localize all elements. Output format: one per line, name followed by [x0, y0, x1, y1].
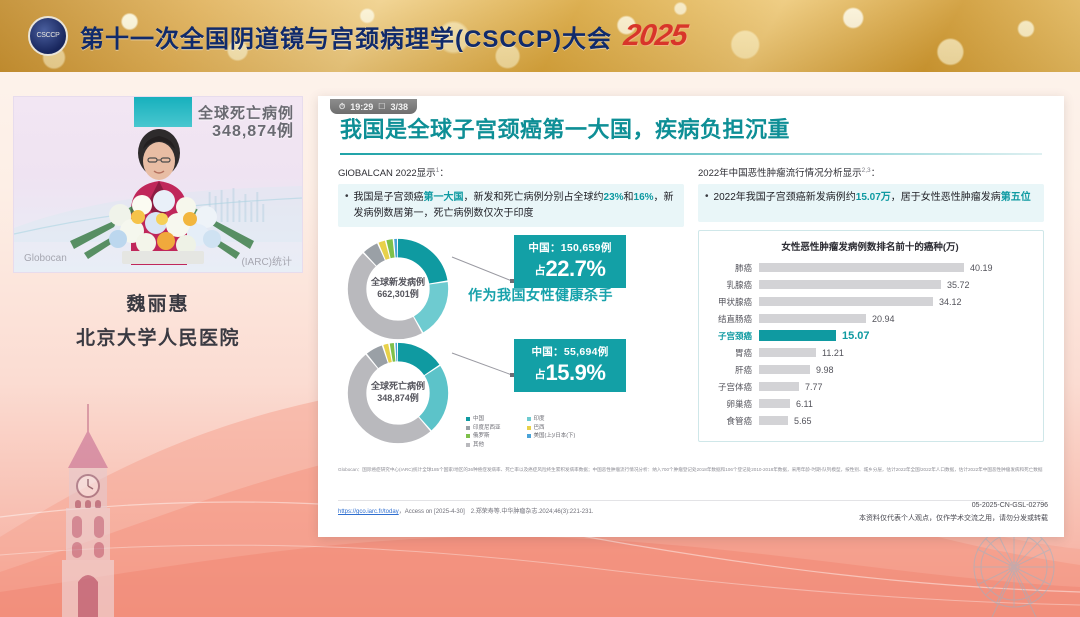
- bar-value-label: 5.65: [794, 416, 812, 426]
- legend-swatch-icon: [527, 434, 531, 438]
- slide-page-counter: 3/38: [390, 102, 408, 112]
- bar-value-label: 35.72: [947, 280, 970, 290]
- left-heading-colon: ：: [439, 168, 449, 179]
- speaker-name: 魏丽惠: [13, 289, 303, 316]
- bar-category-label: 甲状腺癌: [707, 296, 759, 308]
- donut-legend-column-2: 印度巴西美国(上)/日本(下): [527, 415, 576, 449]
- photo-caption-right: (IARC)统计: [241, 253, 292, 268]
- slide-page-icon: ☐: [378, 102, 385, 111]
- legend-item: 美国(上)/日本(下): [527, 432, 576, 441]
- slide-right-column: 2022年中国恶性肿瘤流行情况分析显示2,3： • 2022年我国子宫颈癌新发病…: [698, 165, 1044, 451]
- bullet-segment-0: 我国是子宫颈癌: [354, 192, 424, 203]
- left-heading-text: GlOBALCAN 2022显示: [338, 168, 436, 179]
- legend-label: 中国: [473, 415, 484, 424]
- bar-fill: [759, 399, 790, 408]
- tagline-text: 作为我国女性健康杀手: [468, 285, 613, 305]
- legend-swatch-icon: [466, 434, 470, 438]
- right-heading-sup: 2,3: [862, 167, 871, 174]
- callout-deaths-percent: 占15.9%: [524, 360, 616, 386]
- bar-chart-row: 肺癌40.19: [707, 259, 1033, 276]
- legend-swatch-icon: [527, 426, 531, 430]
- bar-track: 40.19: [759, 263, 1033, 273]
- left-bullet-box: • 我国是子宫颈癌第一大国，新发和死亡病例分别占全球约23%和16%，新发病例数…: [338, 184, 684, 227]
- bar-value-label: 7.77: [805, 382, 823, 392]
- photo-caption-left: Globocan: [24, 253, 67, 268]
- bar-chart-rows: 肺癌40.19乳腺癌35.72甲状腺癌34.12结直肠癌20.94子宫颈癌15.…: [707, 259, 1033, 429]
- callout-new-cases-percent: 占22.7%: [524, 256, 616, 282]
- bar-category-label: 子宫体癌: [707, 381, 759, 393]
- legend-item: 俄罗斯: [466, 432, 501, 441]
- bar-fill: [759, 280, 941, 289]
- donut-deaths-ring: 全球死亡病例 348,874例: [344, 339, 452, 447]
- donut-deaths-center-label: 全球死亡病例 348,874例: [344, 339, 452, 447]
- bar-category-label: 胃癌: [707, 347, 759, 359]
- right-bullet: • 2022年我国子宫颈癌新发病例约15.07万，居于女性恶性肿瘤发病第五位: [705, 190, 1036, 206]
- donut-deaths-line1: 全球死亡病例: [371, 381, 425, 393]
- slide-source-line: https://gco.iarc.fr/today，Access on [202…: [338, 506, 593, 515]
- bullet-segment-1: 15.07万: [856, 192, 891, 203]
- donut-new-cases-center-label: 全球新发病例 662,301例: [344, 235, 452, 343]
- bar-fill: [759, 330, 836, 341]
- bar-chart-row: 甲状腺癌34.12: [707, 293, 1033, 310]
- donut-deaths-callout: 中国：55,694例 占15.9%: [514, 339, 626, 392]
- bar-value-label: 34.12: [939, 297, 962, 307]
- bar-value-label: 6.11: [796, 399, 813, 409]
- legend-label: 印度尼西亚: [473, 424, 501, 433]
- slide-title: 我国是全球子宫颈癌第一大国，疾病负担沉重: [340, 112, 1042, 144]
- slide-columns: GlOBALCAN 2022显示1： • 我国是子宫颈癌第一大国，新发和死亡病例…: [318, 155, 1064, 451]
- cscc-logo-icon: CSCCP: [28, 16, 68, 56]
- bar-category-label: 结直肠癌: [707, 313, 759, 325]
- clock-icon: ⏱: [339, 102, 345, 112]
- bar-chart-row: 食管癌5.65: [707, 412, 1033, 429]
- slide-footnote: Globocan：国际癌症研究中心(IARC)统计全球185个国家/地区的36种…: [338, 466, 1044, 474]
- slide-legal-block: 05-2025-CN-GSL-02796 本资料仅代表个人观点，仅作学术交流之用…: [859, 500, 1048, 525]
- conference-banner: CSCCP 第十一次全国阴道镜与宫颈病理学(CSCCP)大会 2025: [0, 0, 1080, 72]
- donut-new-cases-ring: 全球新发病例 662,301例: [344, 235, 452, 343]
- conference-title: 第十一次全国阴道镜与宫颈病理学(CSCCP)大会: [80, 19, 612, 54]
- bar-fill: [759, 263, 964, 272]
- legend-label: 俄罗斯: [473, 432, 490, 441]
- donut-new-cases-line2: 662,301例: [377, 289, 419, 301]
- donut-legend-column-1: 中国印度尼西亚俄罗斯其他: [466, 415, 501, 449]
- bar-track: 6.11: [759, 399, 1033, 409]
- legend-label: 其他: [473, 441, 484, 450]
- bar-fill: [759, 348, 816, 357]
- donut-new-cases-callout: 中国：150,659例 占22.7%: [514, 235, 626, 288]
- bar-chart-row: 卵巢癌6.11: [707, 395, 1033, 412]
- legend-label: 美国(上)/日本(下): [534, 432, 576, 441]
- callout-deaths-line1: 中国：55,694例: [524, 344, 616, 359]
- right-heading-colon: ：: [871, 168, 881, 179]
- bar-category-label: 食管癌: [707, 415, 759, 427]
- bullet-dot-icon: •: [345, 190, 349, 221]
- bar-track: 20.94: [759, 314, 1033, 324]
- bar-value-label: 20.94: [872, 314, 895, 324]
- bar-track: 15.07: [759, 330, 1033, 342]
- bar-fill: [759, 416, 788, 425]
- bar-chart-row: 胃癌11.21: [707, 344, 1033, 361]
- slide-left-column: GlOBALCAN 2022显示1： • 我国是子宫颈癌第一大国，新发和死亡病例…: [338, 165, 684, 451]
- callout-new-cases-prefix: 占: [535, 265, 546, 277]
- callout-deaths-prefix: 占: [535, 369, 546, 381]
- bar-value-label: 15.07: [842, 330, 870, 342]
- photo-overlay-line1: 全球死亡病例: [198, 105, 294, 123]
- bar-track: 11.21: [759, 348, 1033, 358]
- photo-caption-row: Globocan (IARC)统计: [24, 253, 292, 268]
- bar-track: 7.77: [759, 382, 1033, 392]
- bullet-segment-2: ，居于女性恶性肿瘤发病: [891, 192, 1001, 203]
- bar-chart-row: 子宫体癌7.77: [707, 378, 1033, 395]
- bar-value-label: 40.19: [970, 263, 993, 273]
- bar-fill: [759, 297, 933, 306]
- bar-chart-row: 子宫颈癌15.07: [707, 327, 1033, 344]
- bar-category-label: 肝癌: [707, 364, 759, 376]
- photo-overlay-line2: 348,874例: [198, 123, 294, 142]
- bullet-segment-5: 16%: [634, 192, 654, 203]
- callout-new-cases-suffix: %: [586, 256, 605, 281]
- right-bullet-box: • 2022年我国子宫颈癌新发病例约15.07万，居于女性恶性肿瘤发病第五位: [698, 184, 1044, 222]
- playback-progress-badge: ⏱ 19:29 ☐ 3/38: [330, 99, 417, 114]
- left-column-heading: GlOBALCAN 2022显示1：: [338, 165, 684, 179]
- legal-code: 05-2025-CN-GSL-02796: [859, 500, 1048, 513]
- bar-chart-panel: 女性恶性肿瘤发病例数排名前十的癌种(万) 肺癌40.19乳腺癌35.72甲状腺癌…: [698, 230, 1044, 442]
- bullet-segment-3: 第五位: [1001, 192, 1031, 203]
- clock-tower-icon: [42, 402, 134, 617]
- callout-deaths-suffix: %: [586, 360, 605, 385]
- speaker-video-frame[interactable]: 全球死亡病例 348,874例: [13, 96, 303, 273]
- photo-slide-overlay-text: 全球死亡病例 348,874例: [198, 105, 294, 142]
- donut-legend: 中国印度尼西亚俄罗斯其他 印度巴西美国(上)/日本(下): [466, 415, 575, 449]
- legend-swatch-icon: [527, 417, 531, 421]
- slide-header: 我国是全球子宫颈癌第一大国，疾病负担沉重: [318, 96, 1064, 155]
- bullet-segment-0: 2022年我国子宫颈癌新发病例约: [714, 192, 856, 203]
- bar-track: 34.12: [759, 297, 1033, 307]
- legend-swatch-icon: [466, 417, 470, 421]
- bar-track: 9.98: [759, 365, 1033, 375]
- bar-category-label: 卵巢癌: [707, 398, 759, 410]
- bullet-segment-2: ，新发和死亡病例分别占全球约: [464, 192, 604, 203]
- bar-chart-row: 肝癌9.98: [707, 361, 1033, 378]
- bar-chart-row: 乳腺癌35.72: [707, 276, 1033, 293]
- callout-new-cases-line1: 中国：150,659例: [524, 240, 616, 255]
- legend-item: 其他: [466, 441, 501, 450]
- donut-deaths-line2: 348,874例: [377, 393, 419, 405]
- bullet-dot-icon: •: [705, 190, 709, 206]
- bar-track: 5.65: [759, 416, 1033, 426]
- bar-value-label: 9.98: [816, 365, 834, 375]
- legend-item: 巴西: [527, 424, 576, 433]
- bullet-segment-3: 23%: [604, 192, 624, 203]
- donut-deaths: 全球死亡病例 348,874例: [344, 339, 452, 447]
- left-bullet-text: 我国是子宫颈癌第一大国，新发和死亡病例分别占全球约23%和16%，新发病例数居第…: [354, 190, 676, 221]
- callout-deaths-value: 15.9: [546, 360, 587, 385]
- bar-fill: [759, 314, 866, 323]
- donut-chart-area: 全球新发病例 662,301例 中国：150,659例 占22.7% 作为我国女…: [338, 233, 684, 451]
- legal-disclaimer: 本资料仅代表个人观点，仅作学术交流之用，请勿分发或转载: [859, 513, 1048, 526]
- bullet-segment-1: 第一大国: [424, 192, 464, 203]
- donut-new-cases: 全球新发病例 662,301例: [344, 235, 452, 343]
- bar-track: 35.72: [759, 280, 1033, 290]
- legend-swatch-icon: [466, 443, 470, 447]
- right-heading-text: 2022年中国恶性肿瘤流行情况分析显示: [698, 168, 862, 179]
- legend-item: 印度: [527, 415, 576, 424]
- bar-chart-row: 结直肠癌20.94: [707, 310, 1033, 327]
- bar-category-label: 肺癌: [707, 262, 759, 274]
- conference-year: 2025: [622, 19, 690, 53]
- legend-label: 印度: [534, 415, 545, 424]
- source-link[interactable]: https://gco.iarc.fr/today: [338, 509, 399, 515]
- legend-item: 印度尼西亚: [466, 424, 501, 433]
- flower-bouquet-decoration: [62, 179, 262, 264]
- speaker-panel: 全球死亡病例 348,874例: [13, 96, 303, 350]
- bar-fill: [759, 365, 810, 374]
- bar-category-label: 乳腺癌: [707, 279, 759, 291]
- legend-item: 中国: [466, 415, 501, 424]
- left-bullet: • 我国是子宫颈癌第一大国，新发和死亡病例分别占全球约23%和16%，新发病例数…: [345, 190, 676, 221]
- right-column-heading: 2022年中国恶性肿瘤流行情况分析显示2,3：: [698, 165, 1044, 179]
- source-rest: ，Access on [2025-4-30] 2.郑荣寿等.中华肿瘤杂志.202…: [399, 509, 594, 515]
- bar-value-label: 11.21: [822, 348, 844, 358]
- bar-category-label: 子宫颈癌: [707, 330, 759, 342]
- legend-swatch-icon: [466, 426, 470, 430]
- legend-label: 巴西: [534, 424, 545, 433]
- bullet-segment-4: 和: [624, 192, 634, 203]
- presentation-slide[interactable]: 我国是全球子宫颈癌第一大国，疾病负担沉重 GlOBALCAN 2022显示1： …: [318, 96, 1064, 537]
- bar-chart-title: 女性恶性肿瘤发病例数排名前十的癌种(万): [707, 239, 1033, 253]
- speaker-organization: 北京大学人民医院: [13, 323, 303, 350]
- callout-new-cases-value: 22.7: [546, 256, 587, 281]
- donut-new-cases-line1: 全球新发病例: [371, 277, 425, 289]
- right-bullet-text: 2022年我国子宫颈癌新发病例约15.07万，居于女性恶性肿瘤发病第五位: [714, 190, 1031, 206]
- cscc-logo-text: CSCCP: [36, 32, 59, 39]
- bar-fill: [759, 382, 799, 391]
- elapsed-time: 19:29: [350, 102, 373, 112]
